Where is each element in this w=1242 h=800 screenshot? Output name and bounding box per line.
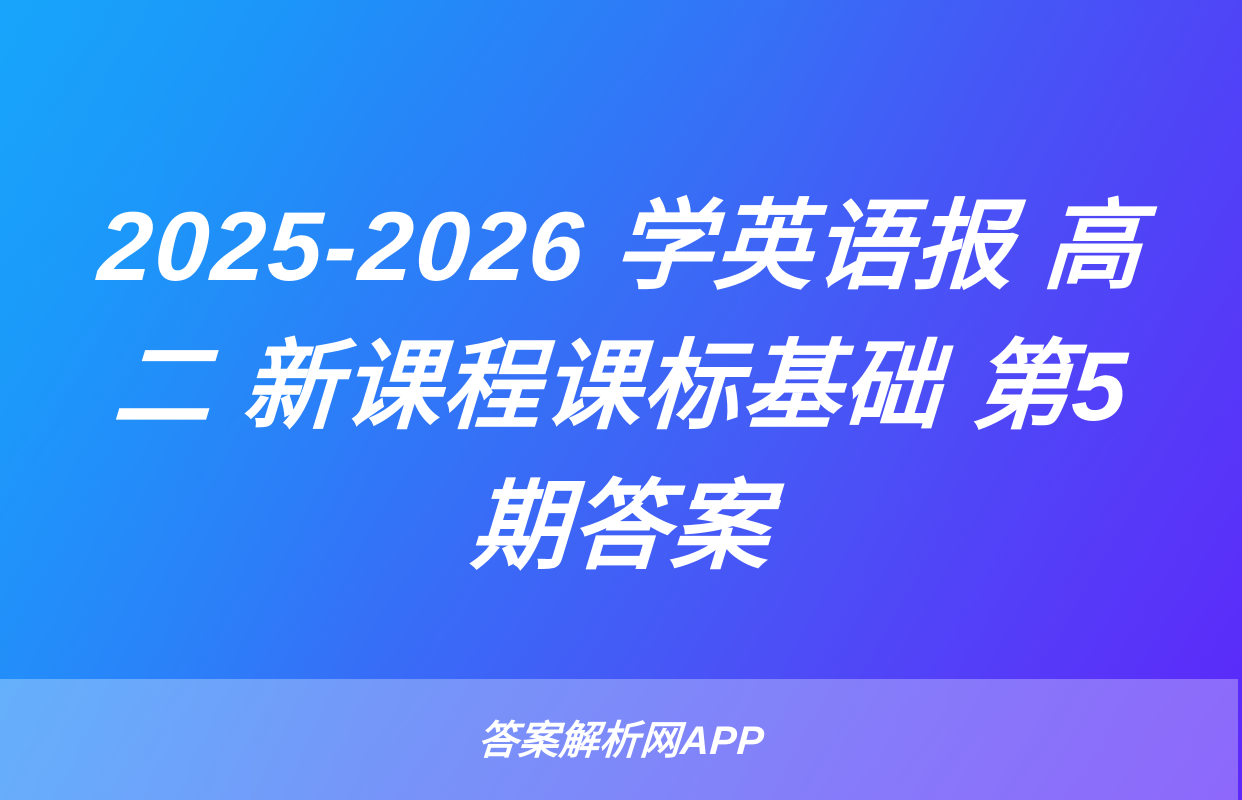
watermark-label: 答案解析网APP <box>476 718 765 764</box>
watermark: 答案解析网APP <box>0 718 1242 764</box>
title-line-3: 期答案 <box>36 456 1205 596</box>
page-title: 2025-2026 学英语报 高 二 新课程课标基础 第5 期答案 <box>0 176 1242 596</box>
title-line-2: 二 新课程课标基础 第5 <box>36 316 1205 456</box>
poster-canvas: 2025-2026 学英语报 高 二 新课程课标基础 第5 期答案 答案解析网A… <box>0 0 1242 800</box>
title-line-1: 2025-2026 学英语报 高 <box>36 176 1205 316</box>
